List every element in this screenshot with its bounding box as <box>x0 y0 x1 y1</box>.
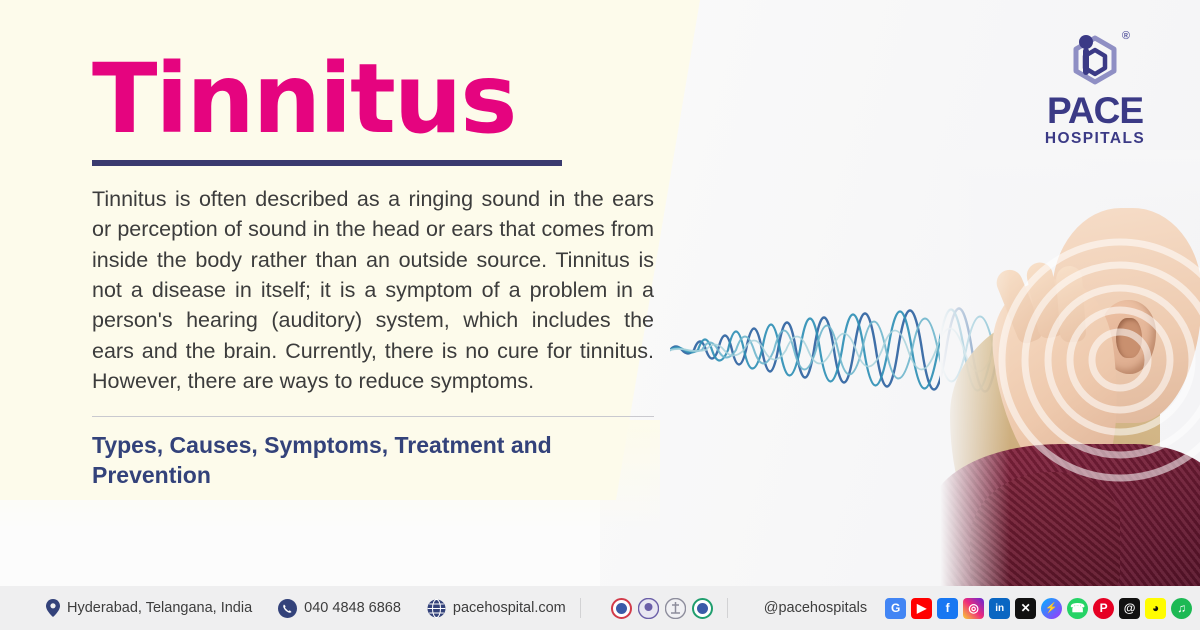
footer-divider-2 <box>727 598 728 618</box>
photo-top-fade <box>940 150 1200 210</box>
threads-icon[interactable]: @ <box>1119 598 1140 619</box>
globe-icon <box>427 599 446 618</box>
social-icons-row: G ▶ f ◎ in ✕ ⚡ ☎ P @ ◕ ♫ <box>885 598 1192 619</box>
jci-badge <box>665 598 686 619</box>
logo-hexagon-person-icon: ® <box>1064 28 1126 90</box>
registered-trademark-icon: ® <box>1122 30 1130 42</box>
logo-subtext: HOSPITALS <box>1045 131 1145 147</box>
logo-wordmark: PACE <box>1047 92 1143 129</box>
footer-phone[interactable]: 040 4848 6868 <box>278 599 401 618</box>
facebook-icon[interactable]: f <box>937 598 958 619</box>
nabl-badge <box>638 598 659 619</box>
footer-location: Hyderabad, Telangana, India <box>0 599 252 617</box>
nabh-badge <box>611 598 632 619</box>
headline-column: Tinnitus Tinnitus is often described as … <box>92 52 654 491</box>
website-text: pacehospital.com <box>453 600 566 616</box>
description-paragraph: Tinnitus is often described as a ringing… <box>92 184 654 396</box>
messenger-icon[interactable]: ⚡ <box>1041 598 1062 619</box>
social-handle: @pacehospitals <box>764 600 867 616</box>
pace-hospitals-logo[interactable]: ® PACE HOSPITALS <box>1020 28 1170 147</box>
footer-divider-1 <box>580 598 581 618</box>
phone-text: 040 4848 6868 <box>304 600 401 616</box>
location-text: Hyderabad, Telangana, India <box>67 600 252 616</box>
google-business-icon[interactable]: G <box>885 598 906 619</box>
page-title: Tinnitus <box>92 52 654 146</box>
title-underline <box>92 160 562 166</box>
woman-cupping-ear-photo <box>940 150 1200 586</box>
x-icon[interactable]: ✕ <box>1015 598 1036 619</box>
subtitle-divider <box>92 416 654 417</box>
spotify-icon[interactable]: ♫ <box>1171 598 1192 619</box>
youtube-icon[interactable]: ▶ <box>911 598 932 619</box>
map-pin-icon <box>46 599 60 617</box>
linkedin-icon[interactable]: in <box>989 598 1010 619</box>
accreditation-badges <box>611 598 713 619</box>
pinterest-icon[interactable]: P <box>1093 598 1114 619</box>
whatsapp-icon[interactable]: ☎ <box>1067 598 1088 619</box>
snapchat-icon[interactable]: ◕ <box>1145 598 1166 619</box>
sound-ripple-rings <box>980 210 1200 510</box>
footer-bar: Hyderabad, Telangana, India 040 4848 686… <box>0 586 1200 630</box>
footer-website[interactable]: pacehospital.com <box>427 599 566 618</box>
phone-icon <box>278 599 297 618</box>
subtitle-text: Types, Causes, Symptoms, Treatment and P… <box>92 431 654 491</box>
poster-canvas: ® PACE HOSPITALS Tinnitus Tinnitus is of… <box>0 0 1200 630</box>
iso-badge <box>692 598 713 619</box>
instagram-icon[interactable]: ◎ <box>963 598 984 619</box>
